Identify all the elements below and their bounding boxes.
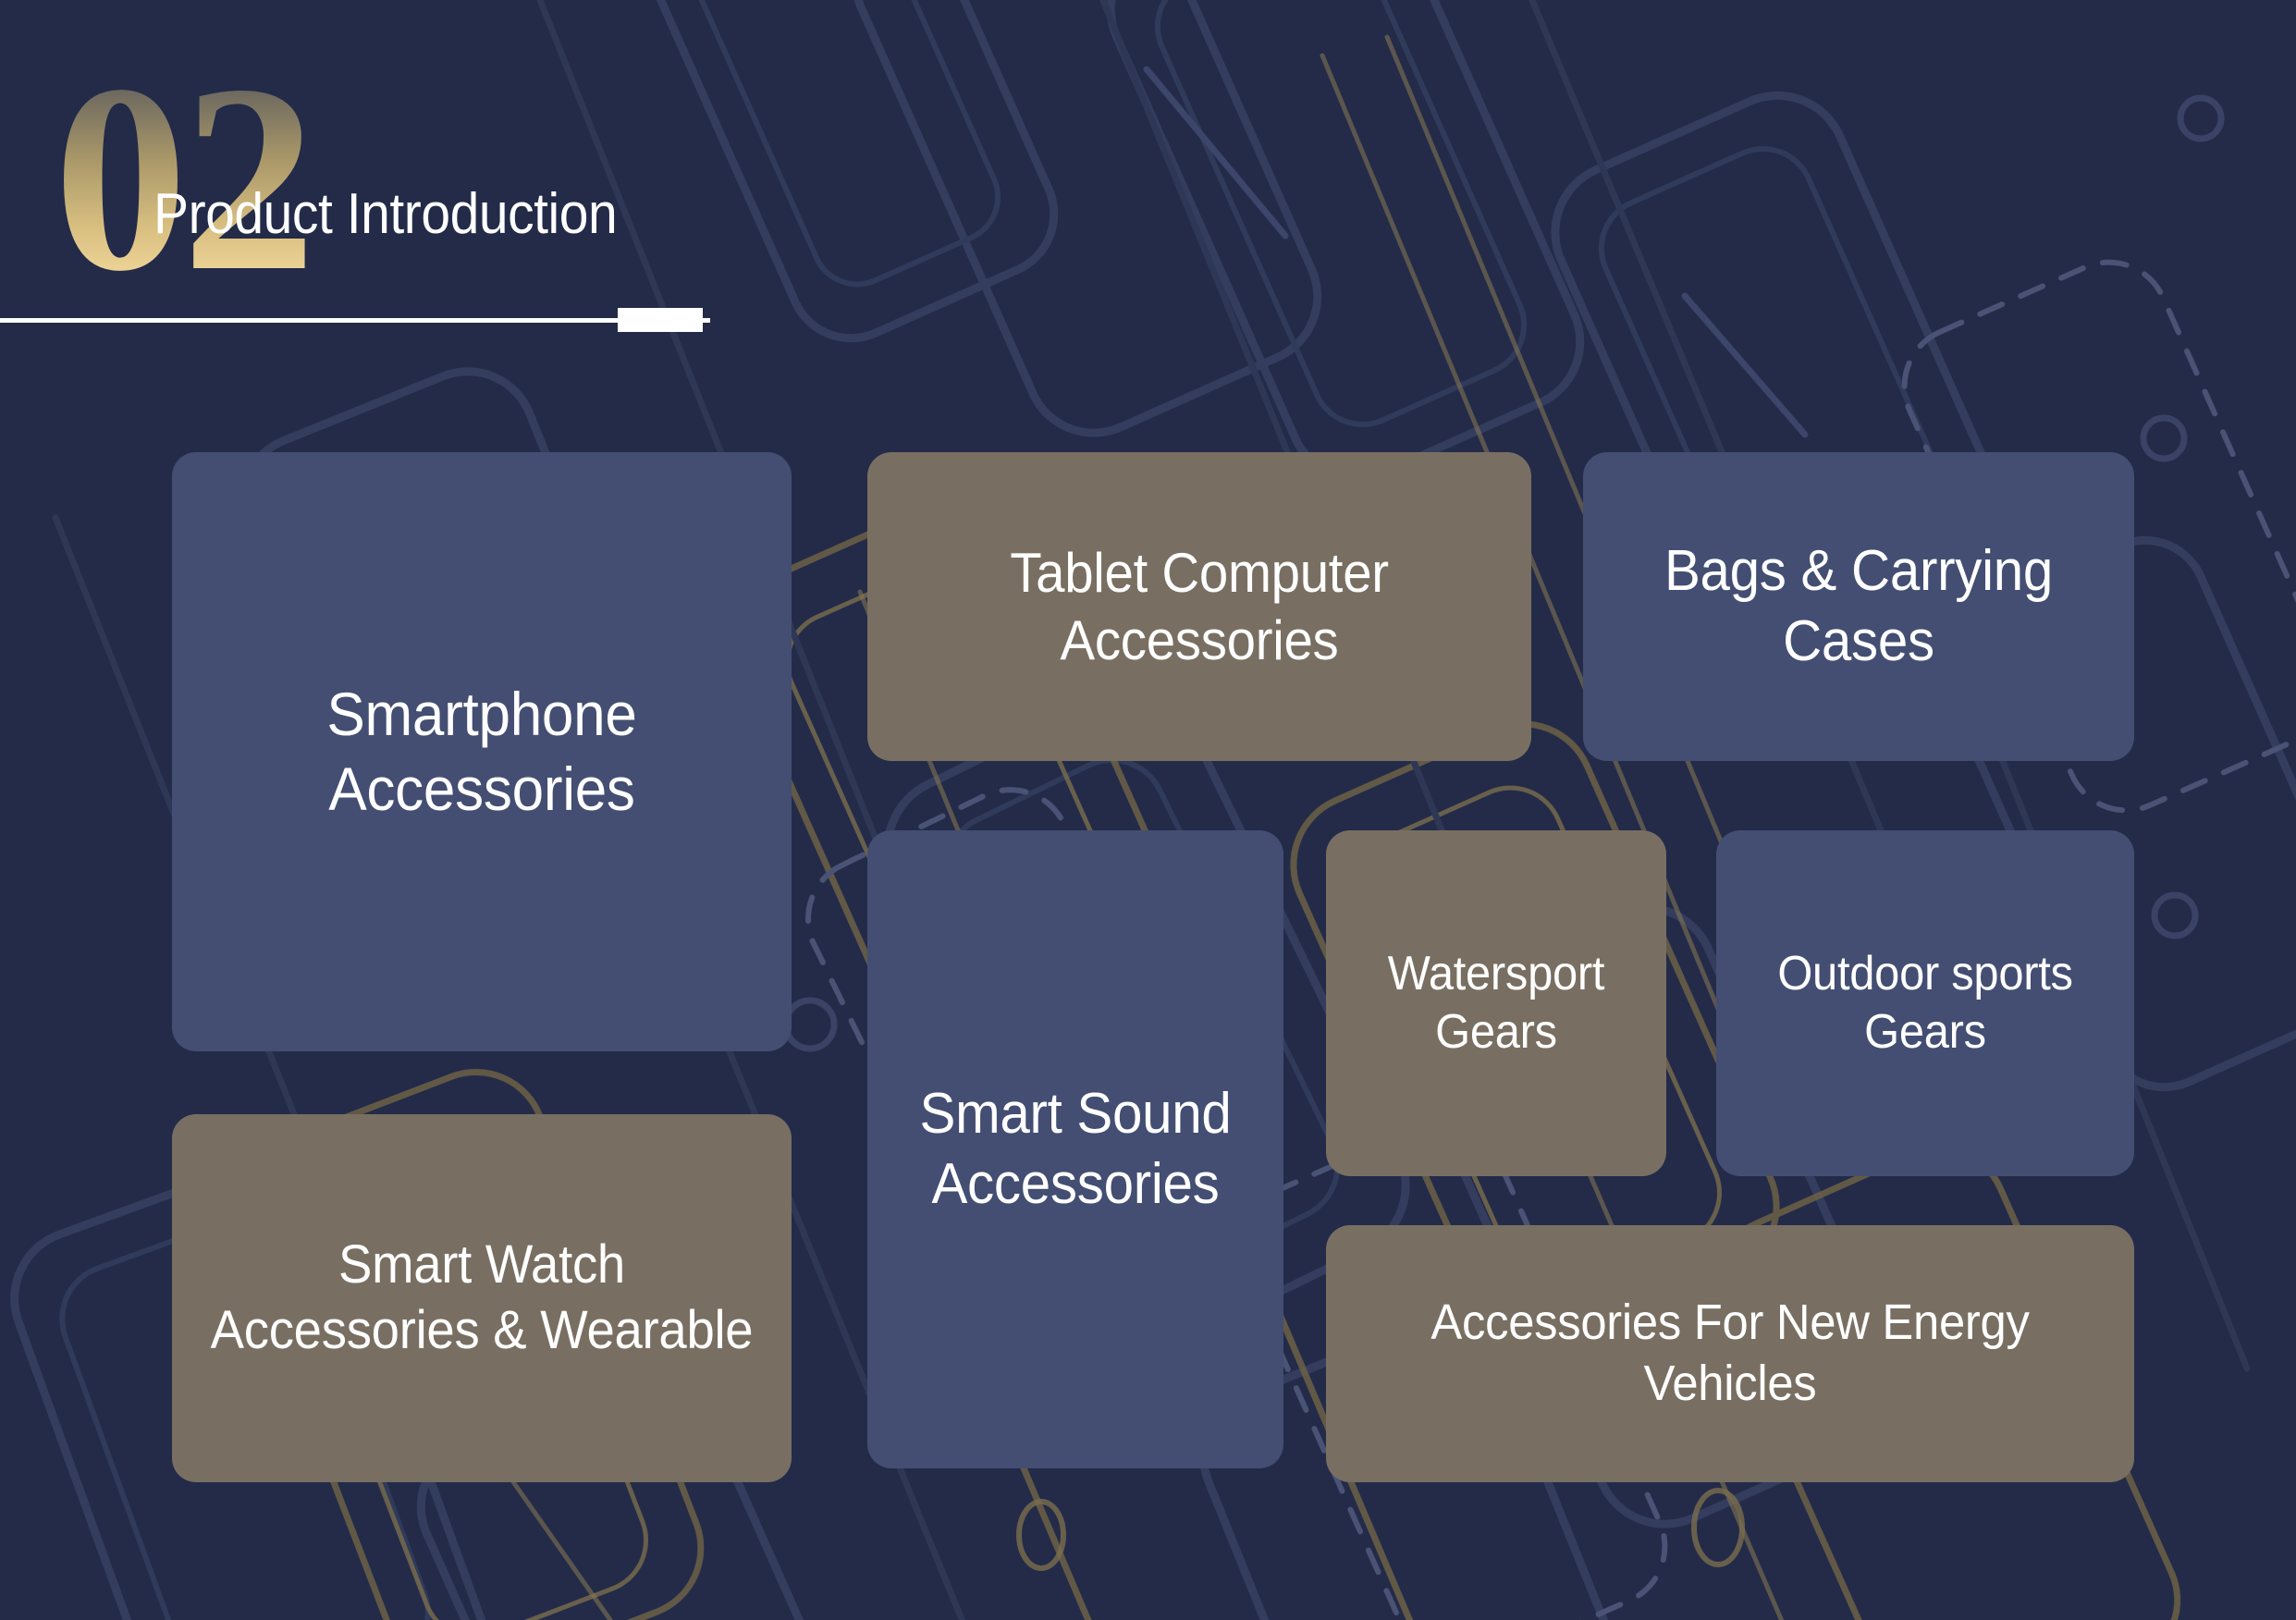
- card-bags-carrying-cases[interactable]: Bags & Carrying Cases: [1583, 452, 2134, 761]
- card-smart-watch-accessories-wearable[interactable]: Smart Watch Accessories & Wearable: [172, 1114, 792, 1482]
- card-label: Tablet Computer Accessories: [888, 539, 1512, 674]
- card-label: Outdoor sports Gears: [1729, 945, 2122, 1062]
- card-tablet-computer-accessories[interactable]: Tablet Computer Accessories: [867, 452, 1531, 761]
- card-smart-sound-accessories[interactable]: Smart Sound Accessories: [867, 830, 1283, 1468]
- card-smartphone-accessories[interactable]: Smartphone Accessories: [172, 452, 792, 1051]
- card-label: Smart Sound Accessories: [880, 1079, 1271, 1219]
- card-label: Bags & Carrying Cases: [1600, 536, 2118, 676]
- card-label: Smart Watch Accessories & Wearable: [190, 1233, 773, 1364]
- presentation-slide: 02 Product Introduction Smartphone Acces…: [0, 0, 2296, 1620]
- category-card-grid: Smartphone Accessories Tablet Computer A…: [0, 0, 2296, 1620]
- card-outdoor-sports-gears[interactable]: Outdoor sports Gears: [1716, 830, 2134, 1176]
- card-label: Accessories For New Energy Vehicles: [1350, 1293, 2110, 1415]
- card-label: Smartphone Accessories: [190, 677, 773, 826]
- card-label: Watersport Gears: [1336, 945, 1656, 1062]
- card-accessories-new-energy-vehicles[interactable]: Accessories For New Energy Vehicles: [1326, 1225, 2134, 1482]
- card-watersport-gears[interactable]: Watersport Gears: [1326, 830, 1666, 1176]
